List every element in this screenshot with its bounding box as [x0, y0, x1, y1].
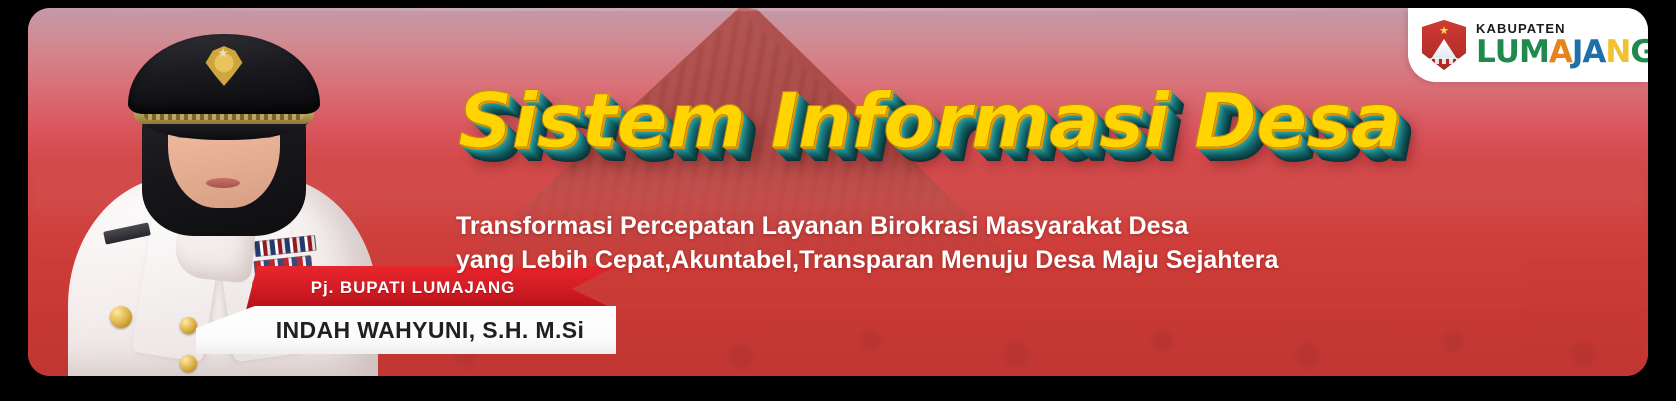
banner-root: Pj. BUPATI LUMAJANG INDAH WAHYUNI, S.H. …	[0, 0, 1676, 401]
logo-text-block: KABUPATEN LUMAJANG	[1476, 22, 1648, 68]
official-role-label: Pj. BUPATI LUMAJANG	[311, 278, 515, 298]
wordmark-letter-0: L	[1476, 37, 1495, 68]
subtitle-block: Transformasi Percepatan Layanan Birokras…	[456, 210, 1336, 278]
nameplate-name-bar: INDAH WAHYUNI, S.H. M.Si	[196, 306, 616, 354]
regency-crest-icon	[1422, 20, 1466, 70]
crest-star-icon	[1440, 26, 1449, 35]
subtitle-line-2: yang Lebih Cepat,Akuntabel,Transparan Me…	[456, 244, 1336, 278]
crest-mountain-icon	[1431, 39, 1457, 59]
lumajang-logo-card[interactable]: KABUPATEN LUMAJANG	[1408, 8, 1648, 82]
subtitle-line-1: Transformasi Percepatan Layanan Birokras…	[456, 210, 1336, 244]
title-container: Sistem Informasi Desa	[458, 76, 1358, 186]
gold-button-icon	[180, 317, 197, 334]
wordmark-letter-3: A	[1549, 37, 1572, 68]
wordmark-letter-6: N	[1605, 37, 1630, 68]
wordmark-letter-5: A	[1582, 37, 1605, 68]
wordmark-letter-7: G	[1630, 37, 1648, 68]
crest-wave-icon	[1428, 58, 1460, 64]
page-title: Sistem Informasi Desa	[458, 76, 1358, 165]
lips	[206, 178, 240, 188]
wordmark-letter-1: U	[1495, 37, 1519, 68]
wordmark-letter-2: M	[1519, 37, 1549, 68]
gold-button-icon	[110, 306, 132, 328]
lumajang-wordmark: LUMAJANG	[1476, 37, 1648, 68]
top-gloss-highlight	[28, 8, 1648, 11]
official-nameplate: Pj. BUPATI LUMAJANG INDAH WAHYUNI, S.H. …	[196, 266, 616, 354]
official-name-label: INDAH WAHYUNI, S.H. M.Si	[276, 317, 585, 344]
hero-banner: Pj. BUPATI LUMAJANG INDAH WAHYUNI, S.H. …	[28, 8, 1648, 376]
wordmark-letter-4: J	[1572, 37, 1583, 68]
gold-button-icon	[180, 355, 197, 372]
